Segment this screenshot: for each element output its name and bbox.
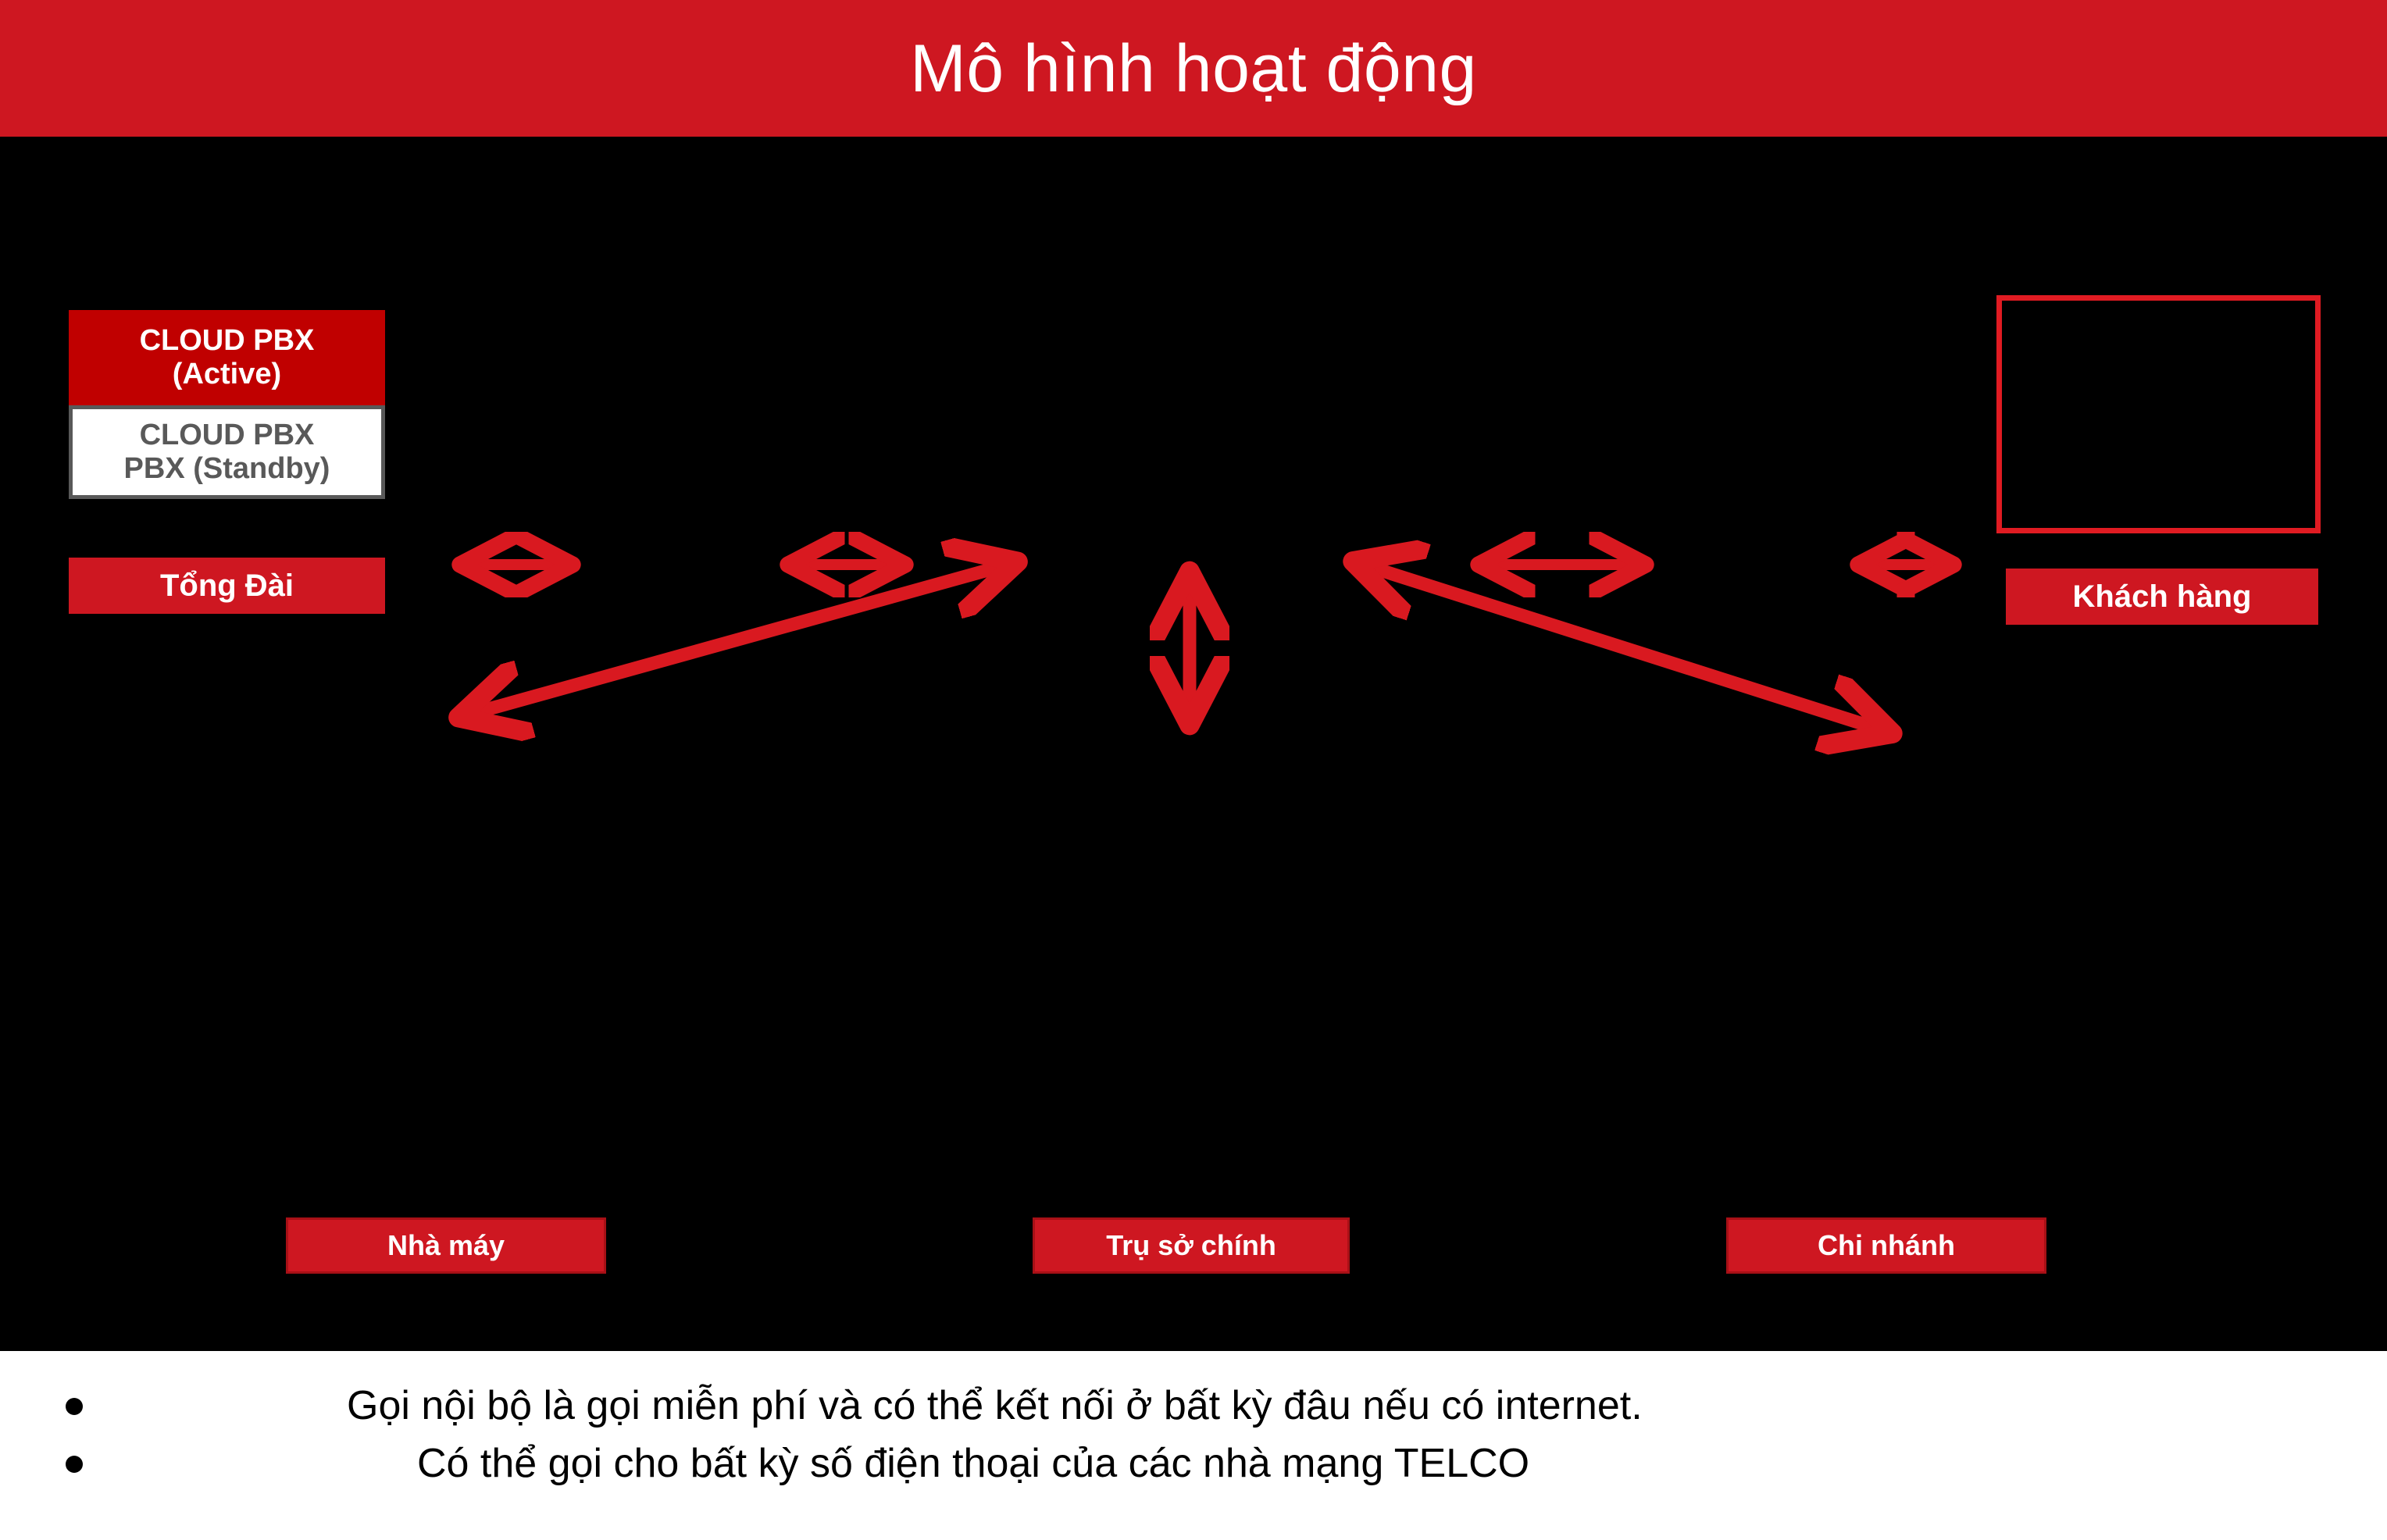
node-label-line2: PBX (Standby) (124, 452, 330, 485)
list-item: Gọi nội bộ là gọi miễn phí và có thể kết… (50, 1378, 2387, 1435)
bullet-dot-icon (66, 1398, 83, 1415)
bullet-list: Gọi nội bộ là gọi miễn phí và có thể kết… (0, 1351, 2387, 1493)
node-tong-dai[interactable]: Tổng Đài (69, 558, 385, 614)
node-khach-hang[interactable]: Khách hàng (2006, 569, 2318, 625)
node-label: Trụ sở chính (1106, 1230, 1276, 1261)
list-item: Có thể gọi cho bất kỳ số điện thoại của … (50, 1435, 2387, 1493)
node-nha-may[interactable]: Nhà máy (286, 1217, 606, 1274)
bullet-dot-icon (66, 1456, 83, 1473)
node-label-line2: (Active) (173, 358, 281, 390)
node-label-line1: CLOUD PBX (140, 419, 315, 451)
node-customer-image-placeholder (1996, 295, 2321, 533)
node-label: Tổng Đài (160, 569, 294, 604)
node-chi-nhanh[interactable]: Chi nhánh (1726, 1217, 2046, 1274)
footer-notes: Gọi nội bộ là gọi miễn phí và có thể kết… (0, 1351, 2387, 1540)
node-cloud-pbx-standby[interactable]: CLOUD PBX PBX (Standby) (69, 405, 385, 499)
node-cloud-pbx-active[interactable]: CLOUD PBX (Active) (69, 310, 385, 405)
node-label: Chi nhánh (1818, 1230, 1955, 1261)
list-item-label: Có thể gọi cho bất kỳ số điện thoại của … (417, 1441, 1529, 1486)
page-title: Mô hình hoạt động (910, 35, 1477, 102)
node-label: CLOUD PBX PBX (Standby) (124, 419, 330, 485)
slide-header-band: Mô hình hoạt động (0, 0, 2387, 137)
node-label: Nhà máy (387, 1230, 505, 1261)
node-label: Khách hàng (2073, 579, 2252, 615)
node-label-line1: CLOUD PBX (140, 324, 315, 357)
connector-diagonal-left (469, 565, 1008, 715)
diagram-canvas: CLOUD PBX (Active) CLOUD PBX PBX (Standb… (0, 137, 2387, 1351)
list-item-label: Gọi nội bộ là gọi miễn phí và có thể kết… (347, 1383, 1643, 1428)
connector-diagonal-right (1363, 565, 1882, 730)
slide-root: Mô hình hoạt động (0, 0, 2387, 1540)
node-tru-so-chinh[interactable]: Trụ sở chính (1033, 1217, 1350, 1274)
node-label: CLOUD PBX (Active) (140, 324, 315, 390)
